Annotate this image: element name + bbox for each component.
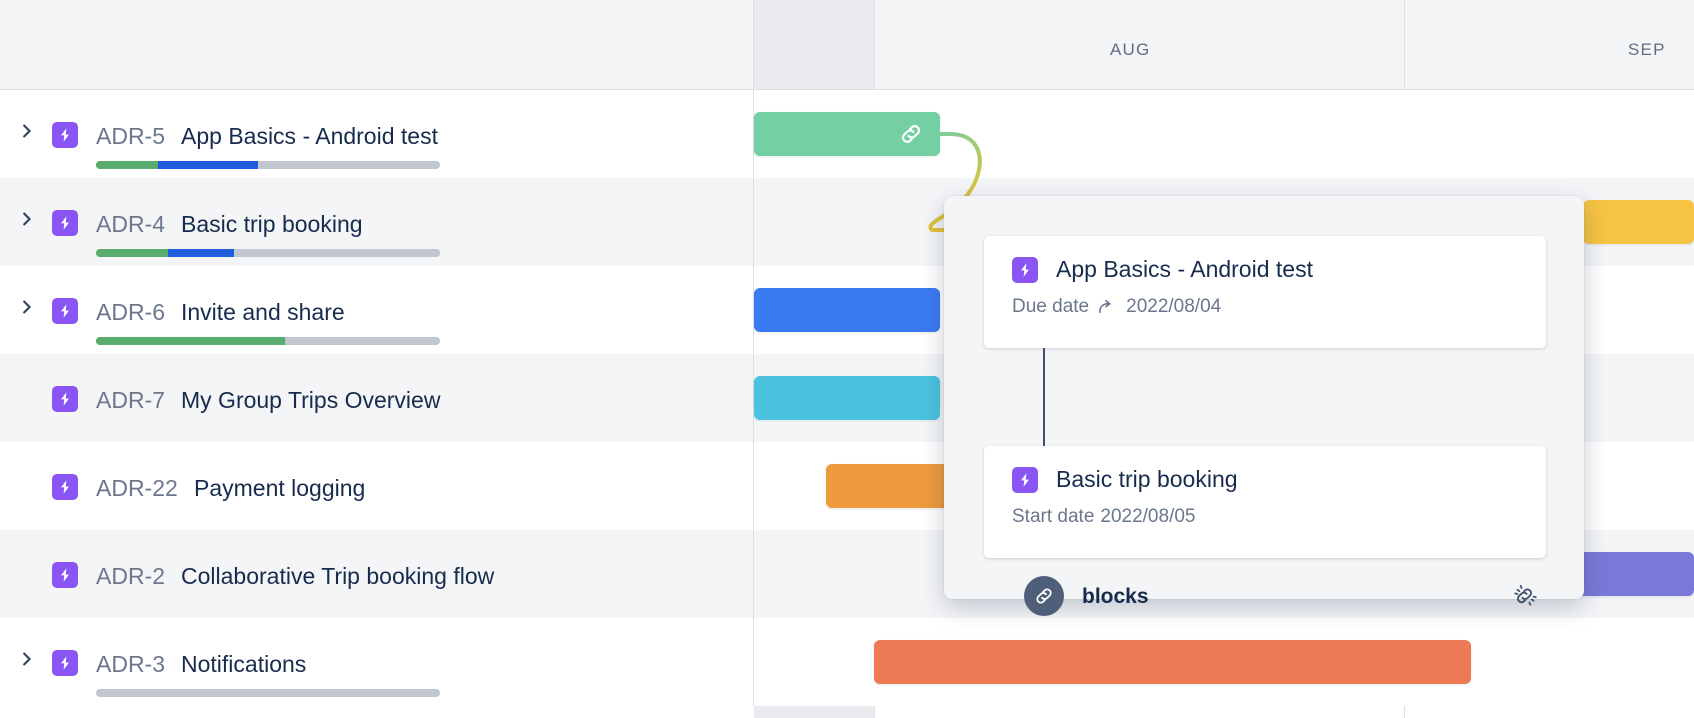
header-column-divider xyxy=(874,0,875,89)
story-bolt-icon xyxy=(1012,257,1038,283)
chevron-right-icon[interactable] xyxy=(18,122,36,140)
chevron-right-icon[interactable] xyxy=(18,298,36,316)
header-column-divider xyxy=(1404,0,1405,89)
dependency-popover[interactable]: App Basics - Android test Due date 2022/… xyxy=(944,196,1584,599)
issue-summary[interactable]: Payment logging xyxy=(194,475,365,502)
issue-key[interactable]: ADR-3 xyxy=(96,651,165,678)
story-bolt-icon xyxy=(52,474,78,500)
progress-segment xyxy=(96,337,285,345)
row-left-cell: ADR-4Basic trip booking xyxy=(0,178,754,266)
popover-source-date-row: Due date 2022/08/04 xyxy=(1012,296,1221,318)
month-label-sep: SEP xyxy=(1628,40,1666,60)
gantt-bar[interactable] xyxy=(1583,200,1694,244)
popover-relationship-label: blocks xyxy=(1082,585,1149,609)
progress-segment xyxy=(258,161,440,169)
popover-source-heading: App Basics - Android test xyxy=(1012,256,1313,283)
story-bolt-icon xyxy=(52,210,78,236)
row-left-cell: ADR-5App Basics - Android test xyxy=(0,90,754,178)
arrow-turn-right-icon xyxy=(1097,299,1114,316)
issue-key[interactable]: ADR-7 xyxy=(96,387,165,414)
issue-key[interactable]: ADR-6 xyxy=(96,299,165,326)
gantt-bar[interactable] xyxy=(874,640,1471,684)
chevron-right-icon[interactable] xyxy=(18,210,36,228)
popover-source-date-value: 2022/08/04 xyxy=(1126,296,1221,318)
issue-key[interactable]: ADR-4 xyxy=(96,211,165,238)
link-icon[interactable] xyxy=(898,121,924,147)
header-weekend-shade xyxy=(754,0,874,89)
progress-segment xyxy=(168,249,233,257)
issue-key[interactable]: ADR-2 xyxy=(96,563,165,590)
issue-summary[interactable]: App Basics - Android test xyxy=(181,123,438,150)
issue-key[interactable]: ADR-22 xyxy=(96,475,178,502)
popover-source-card[interactable]: App Basics - Android test Due date 2022/… xyxy=(984,236,1546,348)
row-left-cell: ADR-6Invite and share xyxy=(0,266,754,354)
row-left-cell: ADR-7My Group Trips Overview xyxy=(0,354,754,442)
progress-segment xyxy=(96,249,168,257)
popover-target-title: Basic trip booking xyxy=(1056,466,1238,493)
progress-bar xyxy=(96,337,440,345)
issue-summary[interactable]: Notifications xyxy=(181,651,306,678)
progress-segment xyxy=(96,689,440,697)
header-left-panel xyxy=(0,0,754,89)
row-left-cell: ADR-2Collaborative Trip booking flow xyxy=(0,530,754,618)
story-bolt-icon xyxy=(52,562,78,588)
popover-source-title: App Basics - Android test xyxy=(1056,256,1313,283)
popover-target-date-value: 2022/08/05 xyxy=(1100,506,1195,528)
progress-segment xyxy=(285,337,440,345)
row-left-cell: ADR-3Notifications xyxy=(0,618,754,706)
story-bolt-icon xyxy=(52,386,78,412)
issue-summary[interactable]: Invite and share xyxy=(181,299,345,326)
progress-segment xyxy=(96,161,158,169)
gantt-timeline-view: ADR-5App Basics - Android testADR-4Basic… xyxy=(0,0,1694,718)
issue-summary[interactable]: Collaborative Trip booking flow xyxy=(181,563,494,590)
issue-summary[interactable]: Basic trip booking xyxy=(181,211,363,238)
story-bolt-icon xyxy=(52,650,78,676)
progress-bar xyxy=(96,161,440,169)
table-row[interactable]: ADR-5App Basics - Android test xyxy=(0,90,1694,178)
progress-bar xyxy=(96,689,440,697)
popover-target-date-label: Start date xyxy=(1012,506,1094,528)
progress-segment xyxy=(158,161,258,169)
unlink-icon[interactable] xyxy=(1512,583,1538,609)
issue-summary[interactable]: My Group Trips Overview xyxy=(181,387,440,414)
story-bolt-icon xyxy=(1012,467,1038,493)
gantt-bar[interactable] xyxy=(754,112,940,156)
gantt-bar[interactable] xyxy=(754,288,940,332)
progress-segment xyxy=(234,249,440,257)
popover-connector-line xyxy=(1043,348,1045,446)
story-bolt-icon xyxy=(52,298,78,324)
progress-bar xyxy=(96,249,440,257)
chevron-right-icon[interactable] xyxy=(18,650,36,668)
popover-target-card[interactable]: Basic trip booking Start date 2022/08/05 xyxy=(984,446,1546,558)
row-left-cell: ADR-22Payment logging xyxy=(0,442,754,530)
popover-source-date-label: Due date xyxy=(1012,296,1089,318)
story-bolt-icon xyxy=(52,122,78,148)
popover-target-date-row: Start date 2022/08/05 xyxy=(1012,506,1195,528)
gantt-bar[interactable] xyxy=(754,376,940,420)
table-row[interactable]: ADR-3Notifications xyxy=(0,618,1694,706)
popover-target-heading: Basic trip booking xyxy=(1012,466,1238,493)
timeline-header: AUG SEP xyxy=(0,0,1694,90)
issue-key[interactable]: ADR-5 xyxy=(96,123,165,150)
month-label-aug: AUG xyxy=(1110,40,1150,60)
link-icon xyxy=(1024,576,1064,616)
